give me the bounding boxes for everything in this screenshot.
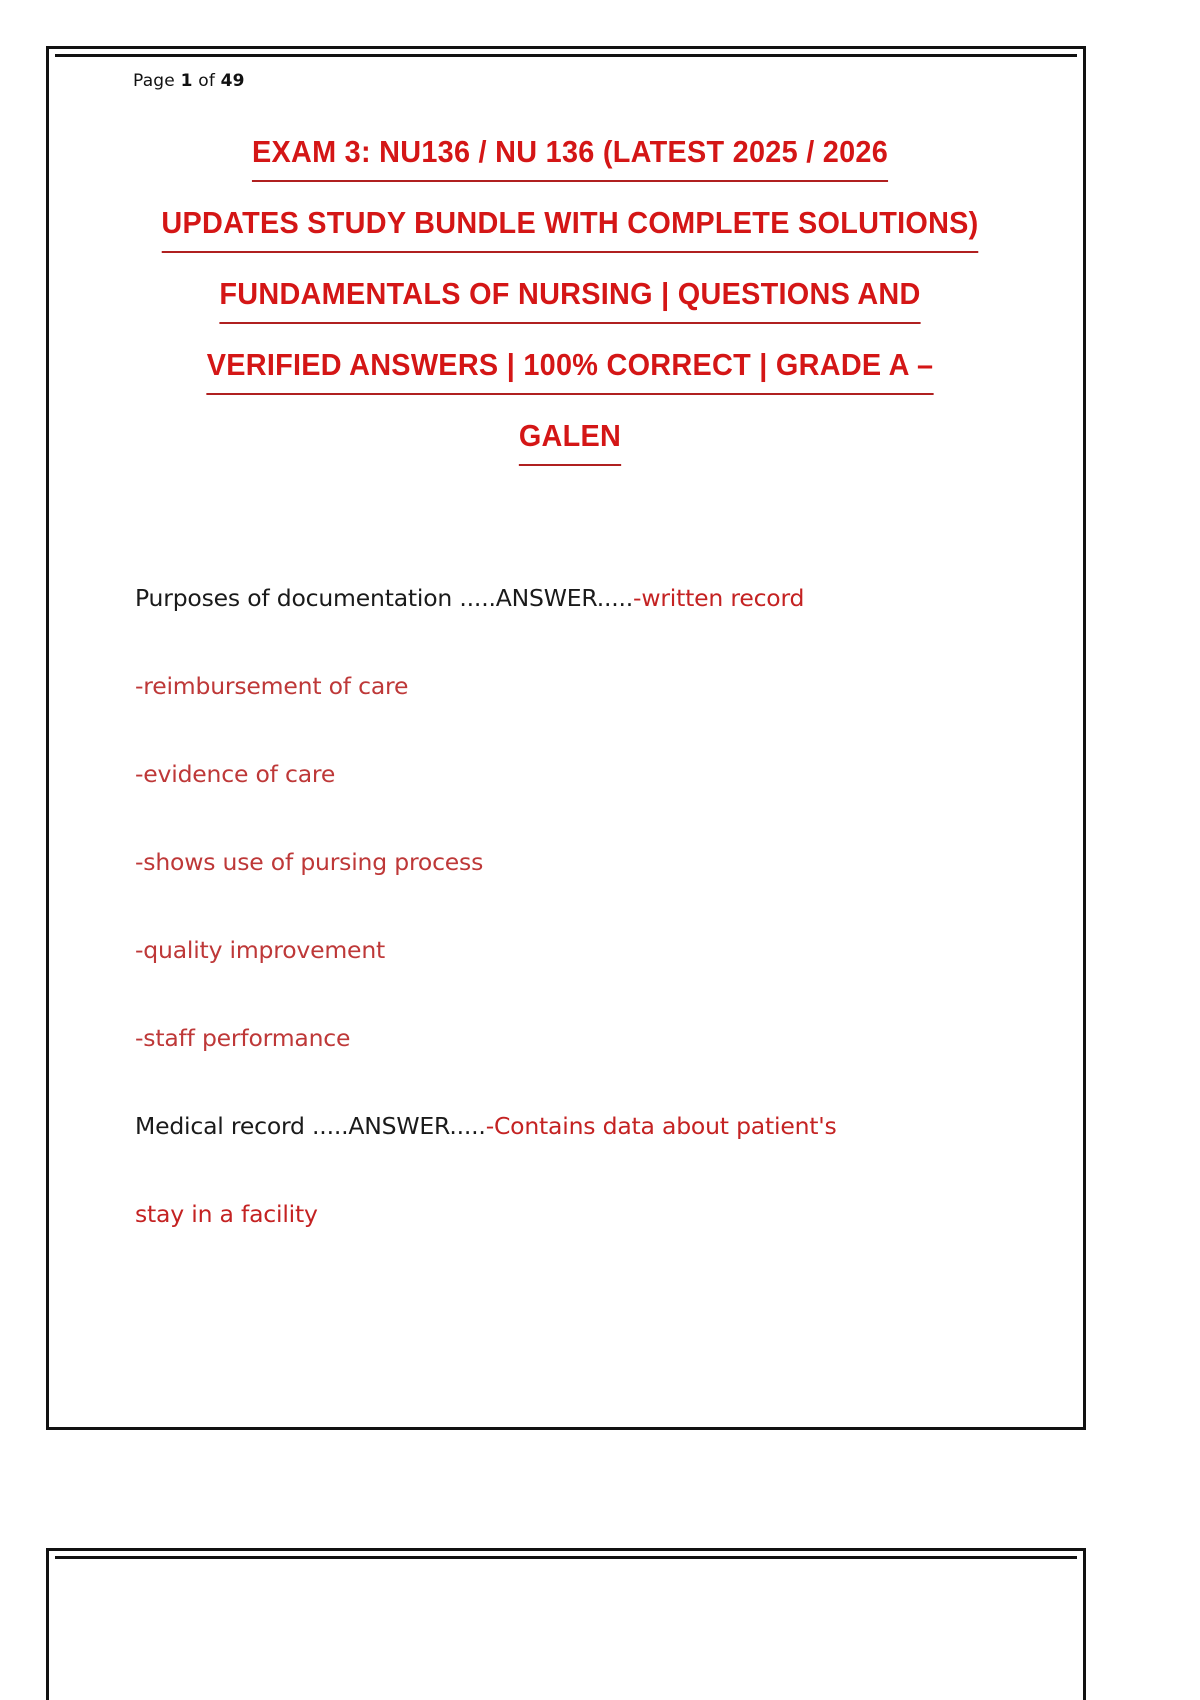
title-line-5-text: GALEN <box>519 411 621 466</box>
answer-continuation: stay in a facility <box>135 1170 1023 1258</box>
qa-entry-purposes-of-documentation: Purposes of documentation .....ANSWER...… <box>135 554 1023 642</box>
document-title: EXAM 3: NU136 / NU 136 (LATEST 2025 / 20… <box>109 127 1031 466</box>
title-line-5: GALEN <box>141 411 998 466</box>
title-line-4-text: VERIFIED ANSWERS | 100% CORRECT | GRADE … <box>207 340 934 395</box>
answer-text: -Contains data about patient's <box>486 1112 837 1140</box>
page-indicator: Page 1 of 49 <box>133 71 245 91</box>
document-viewport: Page 1 of 49 EXAM 3: NU136 / NU 136 (LAT… <box>0 0 1200 1700</box>
page-1-sheet: Page 1 of 49 EXAM 3: NU136 / NU 136 (LAT… <box>46 46 1086 1430</box>
title-line-3: FUNDAMENTALS OF NURSING | QUESTIONS AND <box>141 269 998 324</box>
answer-text: -written record <box>633 584 804 612</box>
bullet-item: -quality improvement <box>135 906 1023 994</box>
document-body: Purposes of documentation .....ANSWER...… <box>135 554 1023 1258</box>
title-line-2: UPDATES STUDY BUNDLE WITH COMPLETE SOLUT… <box>141 198 998 253</box>
page-2-sheet <box>46 1548 1086 1700</box>
page-indicator-middle: of <box>198 71 215 91</box>
title-line-1-text: EXAM 3: NU136 / NU 136 (LATEST 2025 / 20… <box>252 127 888 182</box>
title-line-4: VERIFIED ANSWERS | 100% CORRECT | GRADE … <box>141 340 998 395</box>
qa-entry-medical-record: Medical record .....ANSWER.....-Contains… <box>135 1082 1023 1258</box>
title-line-1: EXAM 3: NU136 / NU 136 (LATEST 2025 / 20… <box>141 127 998 182</box>
qa-line-question-answer: Purposes of documentation .....ANSWER...… <box>135 554 1023 642</box>
title-line-2-text: UPDATES STUDY BUNDLE WITH COMPLETE SOLUT… <box>161 198 978 253</box>
bullet-item: -staff performance <box>135 994 1023 1082</box>
title-line-3-text: FUNDAMENTALS OF NURSING | QUESTIONS AND <box>219 269 920 324</box>
page-1-content-area: Page 1 of 49 EXAM 3: NU136 / NU 136 (LAT… <box>49 49 1083 1427</box>
page-indicator-total: 49 <box>221 71 245 91</box>
bullet-item: -reimbursement of care <box>135 642 1023 730</box>
bullet-item: -shows use of pursing process <box>135 818 1023 906</box>
bullet-item: -evidence of care <box>135 730 1023 818</box>
qa-line-question-answer: Medical record .....ANSWER.....-Contains… <box>135 1082 1023 1170</box>
header-rule <box>55 54 1077 57</box>
question-text: Purposes of documentation .....ANSWER...… <box>135 584 633 612</box>
page-indicator-current: 1 <box>181 71 193 91</box>
question-text: Medical record .....ANSWER..... <box>135 1112 486 1140</box>
header-rule <box>55 1556 1077 1559</box>
page-indicator-prefix: Page <box>133 71 175 91</box>
